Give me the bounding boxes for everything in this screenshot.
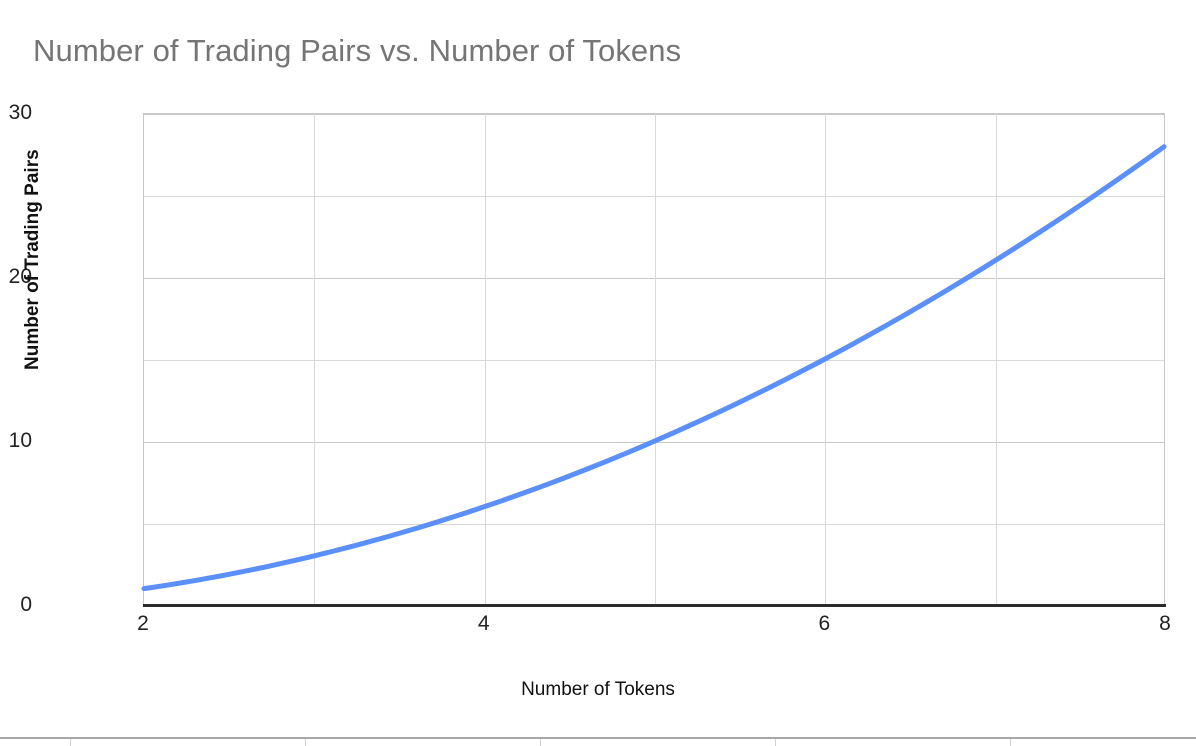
x-tick-label-6: 6: [818, 612, 830, 636]
y-tick-label-0: 0: [0, 593, 32, 617]
chart-title: Number of Trading Pairs vs. Number of To…: [33, 33, 681, 69]
x-tick-label-2: 2: [137, 612, 149, 636]
y-axis-title: Number of Trading Pairs: [22, 149, 44, 370]
spreadsheet-cell-tick: [540, 739, 541, 746]
spreadsheet-cell-tick: [70, 739, 71, 746]
spreadsheet-cell-tick: [775, 739, 776, 746]
spreadsheet-cell-tick: [305, 739, 306, 746]
spreadsheet-cell-ticks: [0, 739, 1196, 746]
x-tick-label-8: 8: [1159, 612, 1171, 636]
x-tick-label-4: 4: [478, 612, 490, 636]
y-tick-label-30: 30: [0, 101, 32, 125]
series-line-trading-pairs: [144, 114, 1164, 605]
plot-area[interactable]: [143, 113, 1165, 605]
x-axis-title: Number of Tokens: [0, 679, 1196, 701]
spreadsheet-cell-tick: [1010, 739, 1011, 746]
x-axis-line: [143, 604, 1166, 607]
y-tick-label-10: 10: [0, 429, 32, 453]
chart-figure[interactable]: Number of Trading Pairs vs. Number of To…: [0, 0, 1196, 738]
